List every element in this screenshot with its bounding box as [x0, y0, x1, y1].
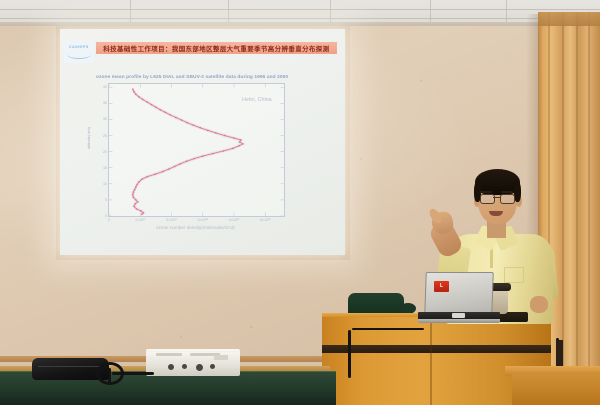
chart-y-tick: 5	[105, 198, 107, 202]
laptop-logo-text: L	[434, 281, 449, 292]
podium-trim-band	[322, 345, 551, 353]
eyeglasses-lens-right	[500, 194, 515, 204]
presentation-photo: CASHIPS 科技基础性工作项目：我国东部地区整层大气重要季节高分辨垂直分布探…	[0, 0, 600, 405]
chart-y-tick: 30	[103, 117, 107, 121]
logo-swoosh-icon	[67, 50, 91, 59]
laptop-brand-logo: L	[434, 281, 449, 292]
shirt-pocket	[504, 267, 524, 283]
chart-x-tick: 0	[108, 218, 110, 222]
chart-x-axis-label: ozone number density(molecules/cm3)	[108, 225, 283, 230]
chart-location-annotation: Hefei, China	[242, 97, 272, 103]
logo-text: CASHIPS	[69, 45, 89, 49]
chart-y-tick: 20	[103, 150, 107, 154]
chart-x-tick: 5×10¹²	[260, 218, 271, 222]
eyeglasses-bridge	[493, 197, 500, 198]
projector-port-2	[182, 364, 187, 369]
power-cable-1	[352, 328, 424, 330]
bag-handle[interactable]	[96, 362, 124, 385]
bag-zipper	[38, 366, 100, 367]
chart-plot-area: 051015202530354001×10¹²2×10¹²3×10¹²4×10¹…	[108, 83, 285, 217]
slide-title-banner: 科技基础性工作项目：我国东部地区整层大气重要季节高分辨垂直分布探测	[96, 42, 337, 54]
presenter-eyebrow-right	[501, 191, 513, 193]
chart-y-tick: 25	[103, 134, 107, 138]
curtain-rod-header	[538, 12, 600, 26]
chart-y-tick: 35	[103, 101, 107, 105]
chart-y-tick: 10	[103, 182, 107, 186]
podium-panel-seam	[430, 319, 432, 405]
projector-port-4	[210, 364, 215, 369]
projector-label	[214, 355, 228, 360]
eyeglasses-lens-left	[480, 194, 495, 204]
chart-x-tick: 1×10¹²	[135, 218, 146, 222]
chart-y-axis-label: altitude( km)	[86, 127, 91, 149]
projector-port-1	[168, 364, 174, 370]
chart-x-tick: 3×10¹²	[198, 218, 209, 222]
institute-logo: CASHIPS	[64, 40, 94, 63]
laptop-lid[interactable]	[424, 272, 494, 316]
chart-x-tick: 4×10¹²	[229, 218, 240, 222]
power-cable-2	[348, 330, 351, 378]
laptop-front-edge	[418, 319, 500, 323]
presenter-hair-right	[514, 182, 521, 202]
laptop-badge	[452, 313, 465, 318]
ozone-profile-curve	[109, 84, 284, 216]
chart-y-tick: 15	[103, 166, 107, 170]
chair-backrest	[348, 293, 404, 315]
side-table-body	[512, 374, 600, 405]
chart-y-tick: 0	[105, 214, 107, 218]
projector-vent-left	[156, 353, 182, 356]
projected-slide: CASHIPS 科技基础性工作项目：我国东部地区整层大气重要季节高分辨垂直分布探…	[60, 29, 345, 255]
presenter-eyebrow-left	[480, 191, 492, 193]
chart-y-tick: 40	[103, 85, 107, 89]
chart-x-tick: 2×10¹²	[166, 218, 177, 222]
projector-port-3	[196, 364, 203, 371]
presenter-left-hand	[530, 296, 548, 313]
chart-title: ozone mean profile by L625 DIAL and SBUV…	[96, 75, 324, 80]
slide-title-text: 科技基础性工作项目：我国东部地区整层大气重要季节高分辨垂直分布探测	[103, 43, 329, 53]
